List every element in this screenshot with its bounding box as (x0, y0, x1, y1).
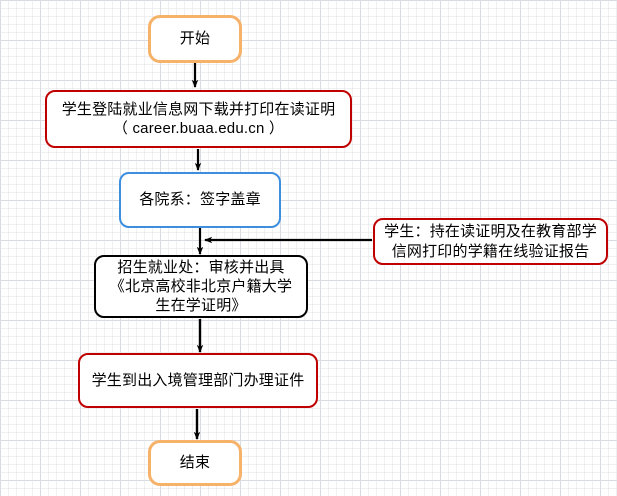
node-exit-entry-administration[interactable]: 学生到出入境管理部门办理证件 (78, 353, 318, 408)
node-department-sign-seal[interactable]: 各院系：签字盖章 (119, 172, 281, 228)
node-admissions-office-review[interactable]: 招生就业处：审核并出具 《北京高校非北京户籍大学 生在学证明》 (94, 255, 308, 318)
node-admissions-office-review-label: 招生就业处：审核并出具 《北京高校非北京户籍大学 生在学证明》 (110, 258, 292, 316)
node-start-label: 开始 (180, 29, 210, 48)
node-start[interactable]: 开始 (148, 15, 242, 63)
node-student-documents-label: 学生：持在读证明及在教育部学 信网打印的学籍在线验证报告 (384, 222, 597, 260)
node-end[interactable]: 结束 (148, 440, 242, 486)
node-exit-entry-administration-label: 学生到出入境管理部门办理证件 (92, 371, 305, 390)
node-download-certificate-label: 学生登陆就业信息网下载并打印在读证明 （ career.buaa.edu.cn … (62, 100, 336, 138)
node-student-documents[interactable]: 学生：持在读证明及在教育部学 信网打印的学籍在线验证报告 (373, 218, 608, 265)
node-end-label: 结束 (180, 453, 210, 472)
node-department-sign-seal-label: 各院系：签字盖章 (139, 190, 261, 209)
node-download-certificate[interactable]: 学生登陆就业信息网下载并打印在读证明 （ career.buaa.edu.cn … (45, 90, 352, 148)
flowchart-canvas: 开始 学生登陆就业信息网下载并打印在读证明 （ career.buaa.edu.… (0, 0, 617, 496)
